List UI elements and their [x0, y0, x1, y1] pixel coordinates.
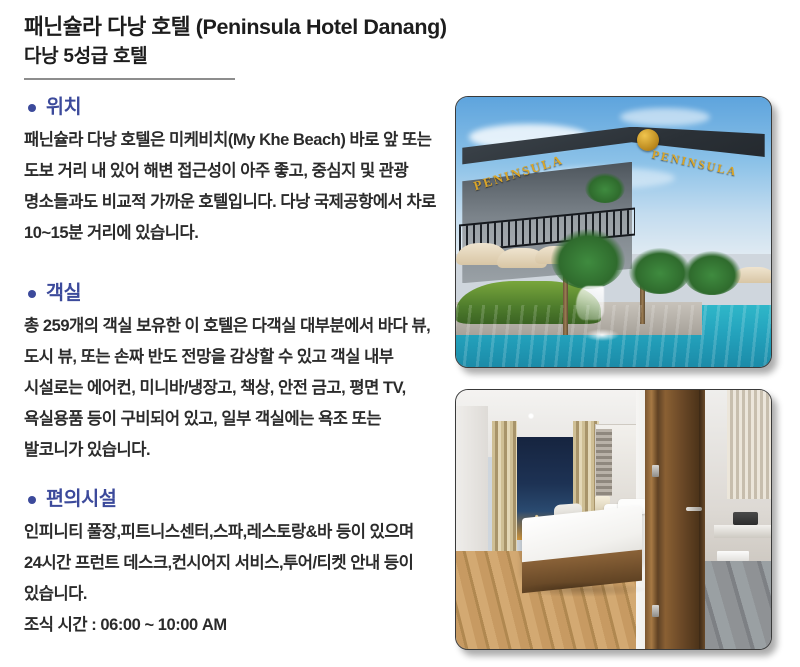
header-divider [24, 78, 235, 80]
section-amenities: 편의시설 인피니티 풀장,피트니스센터,스파,레스토랑&바 등이 있으며 24시… [24, 488, 436, 641]
palm-tree [585, 173, 625, 203]
page-title: 패닌슐라 다낭 호텔 (Peninsula Hotel Danang) [24, 14, 584, 42]
palm-tree [683, 251, 741, 295]
section-title-location: 위치 [46, 96, 81, 119]
bathroom-curtain [727, 390, 771, 499]
section-location: 위치 패닌슐라 다낭 호텔은 미케비치(My Khe Beach) 바로 앞 또… [24, 96, 436, 249]
folded-towels [717, 551, 749, 561]
cloud [620, 108, 710, 126]
guest-room-illustration [456, 390, 771, 649]
bathroom-floor [705, 561, 771, 649]
headboard-texture [596, 429, 612, 496]
photo-guest-room [455, 389, 772, 650]
page-subtitle: 다낭 5성급 호텔 [24, 45, 584, 70]
door-hinge [652, 465, 659, 477]
water-splash [585, 329, 619, 341]
section-heading-location: 위치 [24, 96, 436, 119]
section-title-amenities: 편의시설 [46, 488, 117, 511]
bullet-dot-icon [28, 104, 36, 112]
bathroom-vanity [714, 525, 771, 538]
section-rooms: 객실 총 259개의 객실 보유한 이 호텔은 다객실 대부분에서 바다 뷰, … [24, 282, 436, 466]
section-heading-amenities: 편의시설 [24, 488, 436, 511]
section-body-amenities: 인피니티 풀장,피트니스센터,스파,레스토랑&바 등이 있으며 24시간 프런트… [24, 517, 436, 610]
curtain [492, 421, 517, 551]
bed-shadow [519, 582, 645, 598]
section-body-rooms: 총 259개의 객실 보유한 이 호텔은 다객실 대부분에서 바다 뷰, 도시 … [24, 311, 436, 466]
palm-tree [551, 229, 625, 289]
section-body-location: 패닌슐라 다낭 호텔은 미케비치(My Khe Beach) 바로 앞 또는 도… [24, 125, 436, 249]
water-fountain [576, 286, 604, 320]
room-door [658, 390, 699, 649]
bullet-dot-icon [28, 496, 36, 504]
exterior-illustration: PENINSULA PENINSULA [456, 97, 771, 367]
photo-hotel-exterior: PENINSULA PENINSULA [455, 96, 772, 368]
door-hinge [652, 605, 659, 617]
door-edge [699, 390, 705, 649]
palm-tree [629, 248, 691, 294]
door-handle [686, 507, 702, 512]
vanity-amenity-box [733, 512, 758, 525]
section-title-rooms: 객실 [46, 282, 81, 305]
document-header: 패닌슐라 다낭 호텔 (Peninsula Hotel Danang) 다낭 5… [24, 14, 584, 80]
bullet-dot-icon [28, 290, 36, 298]
breakfast-hours-note: 조식 시간 : 06:00 ~ 10:00 AM [24, 610, 436, 641]
section-heading-rooms: 객실 [24, 282, 436, 305]
